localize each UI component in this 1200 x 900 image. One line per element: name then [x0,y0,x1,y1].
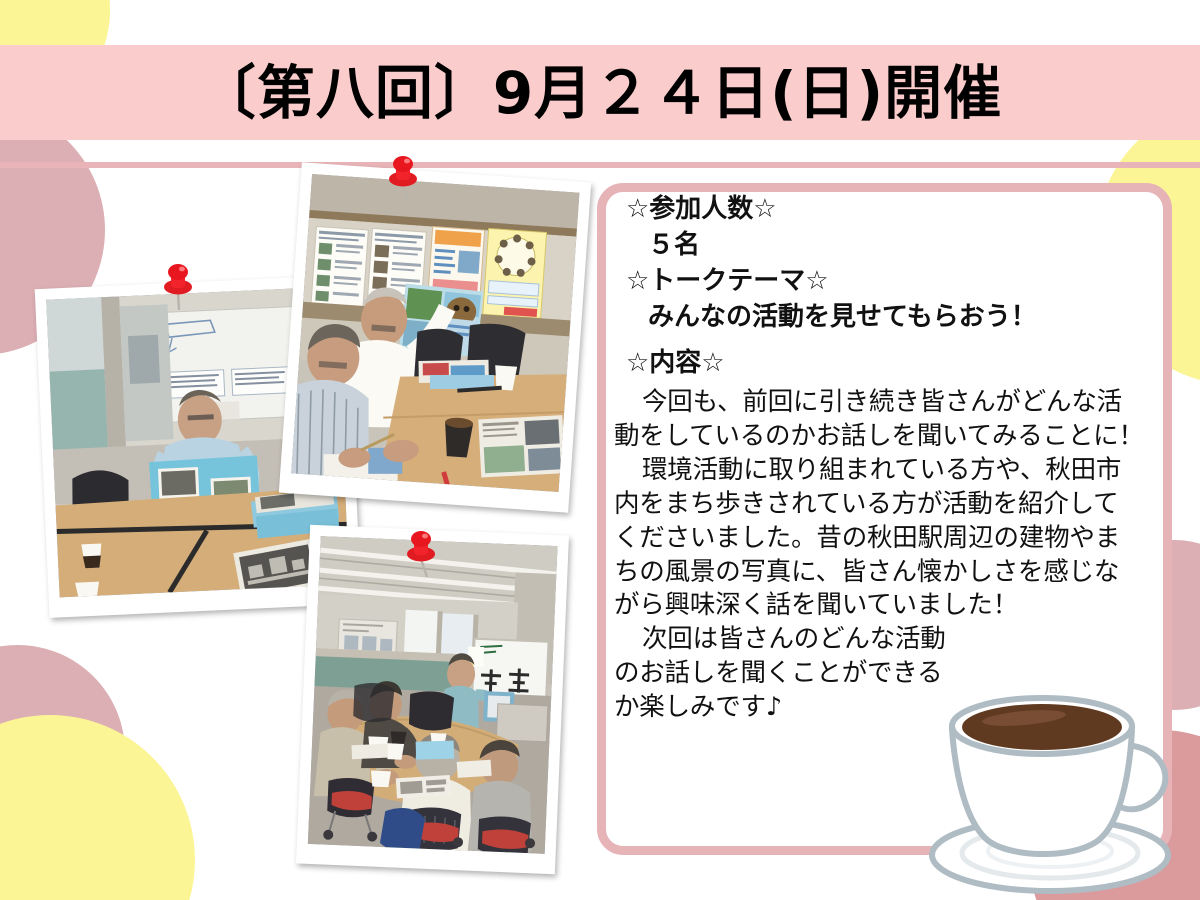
talk-theme-value: みんなの活動を見せてもらおう！ [648,304,1166,330]
push-pin-icon [401,525,441,579]
content-line: 動をしているのかお話しを聞いてみることに！ [614,420,1166,454]
title-divider-rule [0,162,1200,168]
content-heading: ☆内容☆ [626,350,1166,376]
content-line: ちの風景の写真に、皆さん懐かしさを感じな [614,556,1166,590]
content-line: くださいました。昔の秋田駅周辺の建物やま [614,522,1166,556]
content-line: がら興味深く話を聞いていました！ [614,589,1166,623]
content-line: 今回も、前回に引き続き皆さんがどんな活 [614,386,1166,420]
decor-circle-yellow-bottom-left [0,715,195,900]
attendance-value: ５名 [648,232,1166,258]
talk-theme-heading: ☆トークテーマ☆ [626,268,1166,294]
push-pin-icon [383,150,423,204]
photo-image [291,174,579,492]
photo-two-participants-with-brochure [279,162,591,512]
push-pin-icon [158,258,198,312]
attendance-heading: ☆参加人数☆ [626,196,1166,222]
photo-image [308,536,558,854]
content-line: 環境活動に取り組まれている方や、秋田市 [614,454,1166,488]
coffee-cup-illustration [920,650,1195,900]
page-title: 〔第八回〕9月２４日(日)開催 [0,48,1200,138]
poster-canvas: 〔第八回〕9月２４日(日)開催 ☆参加人数☆ ５名 ☆トークテーマ☆ みんなの活… [0,0,1200,900]
content-line: 内をまち歩きされている方が活動を紹介して [614,488,1166,522]
